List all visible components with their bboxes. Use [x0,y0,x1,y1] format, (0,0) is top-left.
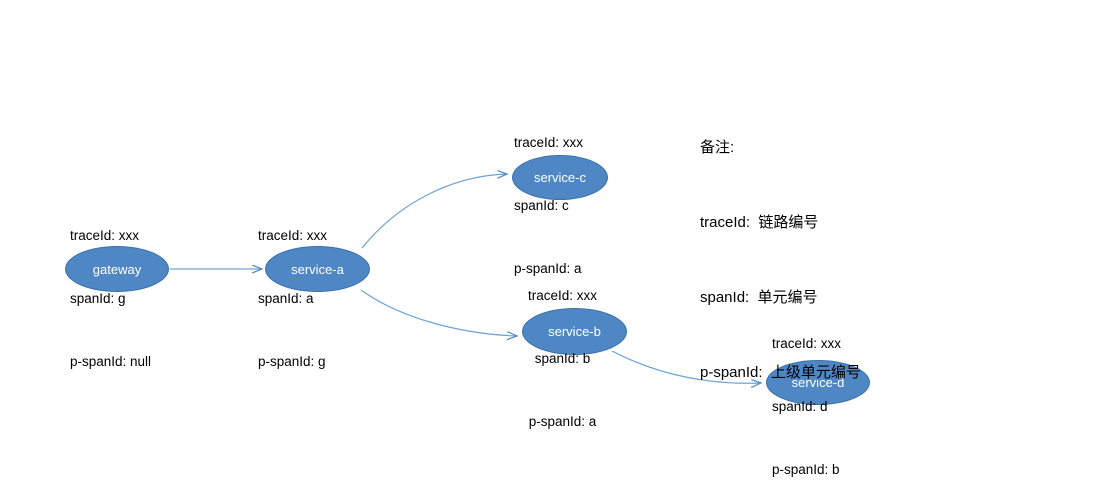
annotation-line-traceid: traceId: xxx [258,225,327,246]
annotation-gateway: traceId: xxx spanId: g p-spanId: null [70,183,151,414]
annotation-line-pspanid: p-spanId: b [772,459,841,480]
annotation-line-pspanid: p-spanId: a [528,411,597,432]
annotation-line-traceid: traceId: xxx [528,285,597,306]
legend-line-spanid: spanId: 单元编号 [700,285,861,310]
annotation-line-spanid: spanId: a [258,288,327,309]
annotation-line-spanid: spanId: g [70,288,151,309]
annotation-service-b: traceId: xxx spanId: b p-spanId: a [528,243,597,474]
legend-line-pspanid: p-spanId: 上级单元编号 [700,360,861,385]
edge-service-a-to-service-b [361,290,517,336]
legend-note: 备注: traceId: 链路编号 spanId: 单元编号 p-spanId:… [700,85,861,435]
annotation-line-spanid: spanId: c [514,195,583,216]
legend-line-traceid: traceId: 链路编号 [700,210,861,235]
annotation-line-traceid: traceId: xxx [514,132,583,153]
annotation-line-pspanid: p-spanId: null [70,351,151,372]
legend-title: 备注: [700,135,861,160]
annotation-line-spanid: spanId: b [528,348,597,369]
annotation-line-pspanid: p-spanId: g [258,351,327,372]
edge-service-a-to-service-c [362,174,507,248]
annotation-line-traceid: traceId: xxx [70,225,151,246]
annotation-service-a: traceId: xxx spanId: a p-spanId: g [258,183,327,414]
diagram-canvas: gateway service-a service-c service-b se… [0,0,1113,493]
